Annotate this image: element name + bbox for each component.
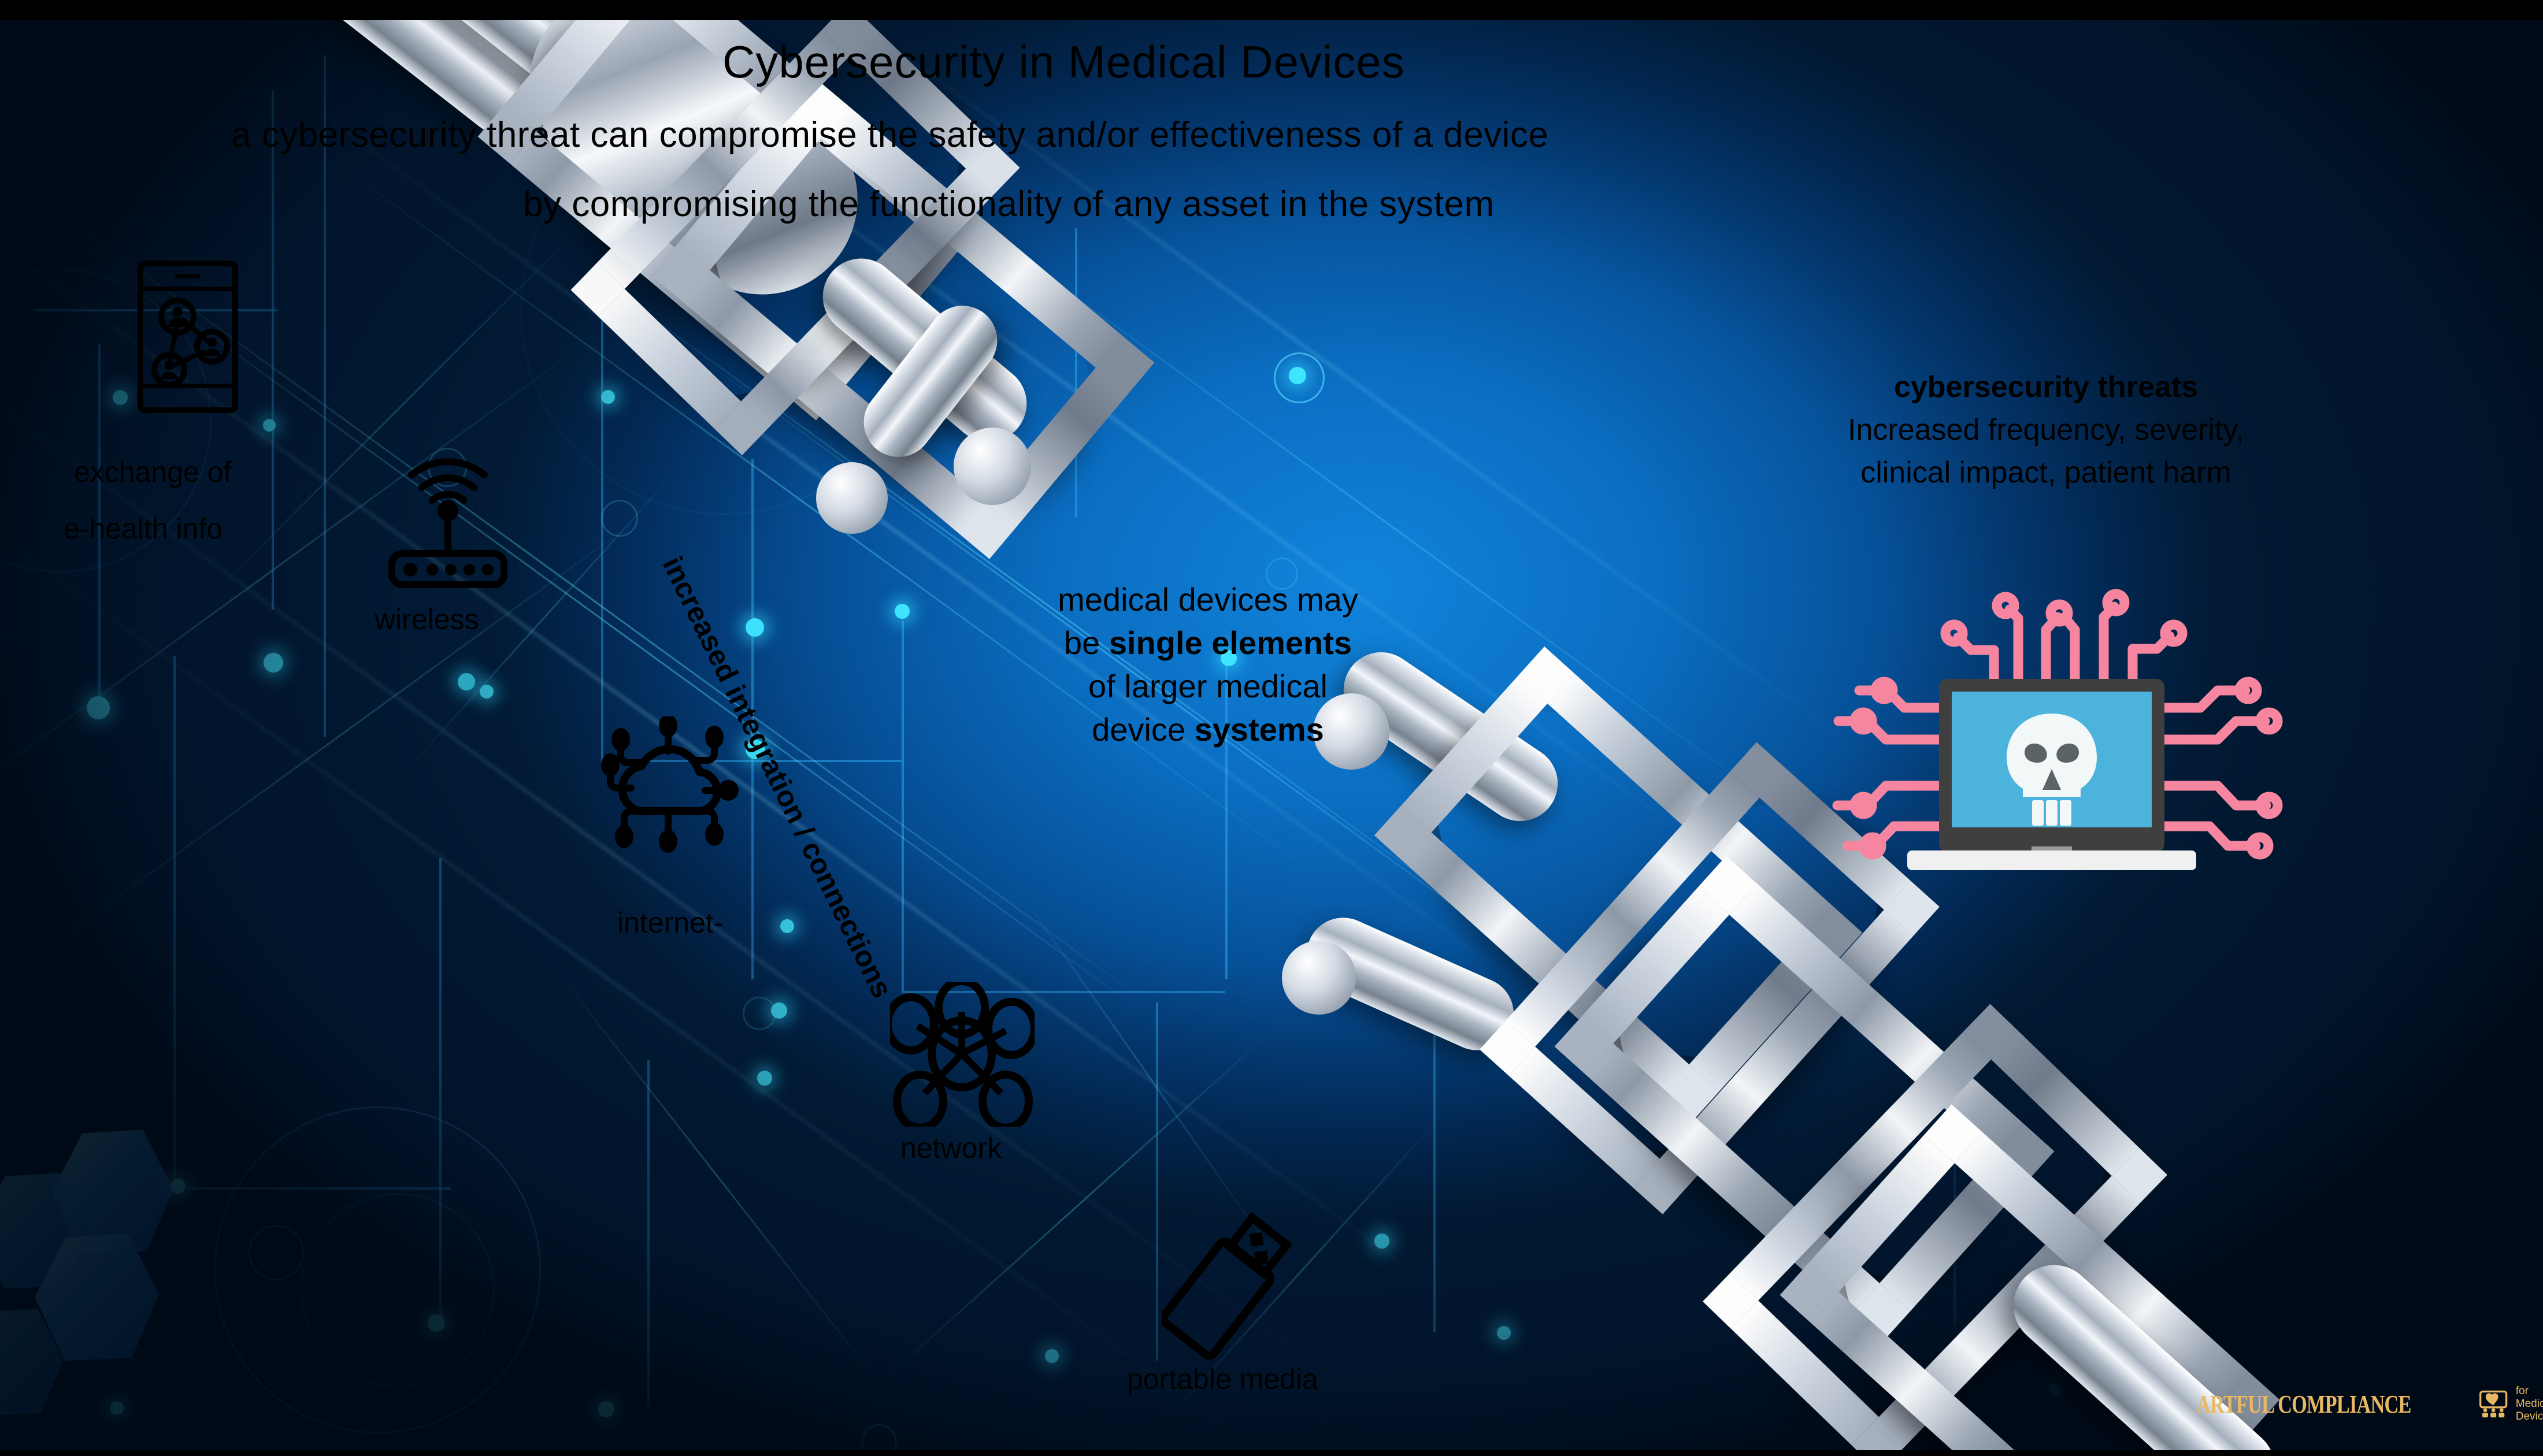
logo-tagline-line2: Devices	[2516, 1410, 2543, 1423]
cybersecurity-threats-block: cybersecurity threats Increased frequenc…	[1757, 370, 2335, 490]
center-line-4-plain: device	[1092, 711, 1194, 748]
center-statement: medical devices may be single elements o…	[1006, 578, 1410, 751]
heart-screen-audience-icon	[2479, 1388, 2507, 1420]
laptop-body	[1939, 679, 2164, 852]
label-portable-media: portable media	[1127, 1364, 1318, 1395]
center-line-2-plain: be	[1064, 625, 1109, 661]
center-line-2-bold: single elements	[1109, 625, 1352, 661]
center-line-4: device systems	[1006, 708, 1410, 751]
threats-heading: cybersecurity threats	[1757, 370, 2335, 404]
label-exchange-line1: exchange of	[74, 456, 231, 488]
center-line-3: of larger medical	[1006, 664, 1410, 708]
center-line-4-bold: systems	[1195, 711, 1324, 748]
letterbox-bottom	[0, 1450, 2543, 1456]
subtitle-line-1: a cybersecurity threat can compromise th…	[231, 116, 1548, 155]
letterbox-top	[0, 0, 2543, 20]
chain-break-cap	[816, 462, 888, 534]
brand-logo[interactable]: ARTFUL COMPLIANCE for Medical Devices	[2196, 1384, 2543, 1424]
laptop-base	[1907, 850, 2196, 870]
label-network: network	[900, 1132, 1002, 1164]
logo-tagline-line1: for Medical	[2516, 1385, 2543, 1410]
network-hub-icon	[890, 982, 1035, 1127]
chain-break-cap	[954, 428, 1031, 505]
laptop-screen	[1952, 692, 2152, 827]
subtitle-line-2: by compromising the functionality of any…	[523, 185, 1495, 224]
logo-tagline: for Medical Devices	[2516, 1385, 2543, 1423]
chain-break-cap	[1282, 941, 1356, 1015]
smartphone-network-icon	[136, 259, 240, 415]
center-line-1: medical devices may	[1006, 578, 1410, 621]
label-wireless: wireless	[375, 604, 479, 636]
usb-flash-drive-icon	[1162, 1208, 1295, 1364]
infographic-canvas: Cybersecurity in Medical Devices a cyber…	[0, 0, 2543, 1456]
logo-wordmark: ARTFUL COMPLIANCE	[2196, 1390, 2411, 1419]
skull-icon	[1952, 692, 2152, 827]
threats-line-2: clinical impact, patient harm	[1757, 455, 2335, 490]
label-exchange-line2: e-health info	[64, 513, 223, 545]
page-title: Cybersecurity in Medical Devices	[722, 38, 1405, 87]
wireless-router-icon	[381, 456, 514, 589]
laptop-skull-malware-icon	[1803, 555, 2329, 901]
label-internet: internet-	[617, 907, 723, 939]
center-line-2: be single elements	[1006, 621, 1410, 664]
cloud-connections-icon	[590, 716, 763, 861]
threats-line-1: Increased frequency, severity,	[1757, 413, 2335, 447]
